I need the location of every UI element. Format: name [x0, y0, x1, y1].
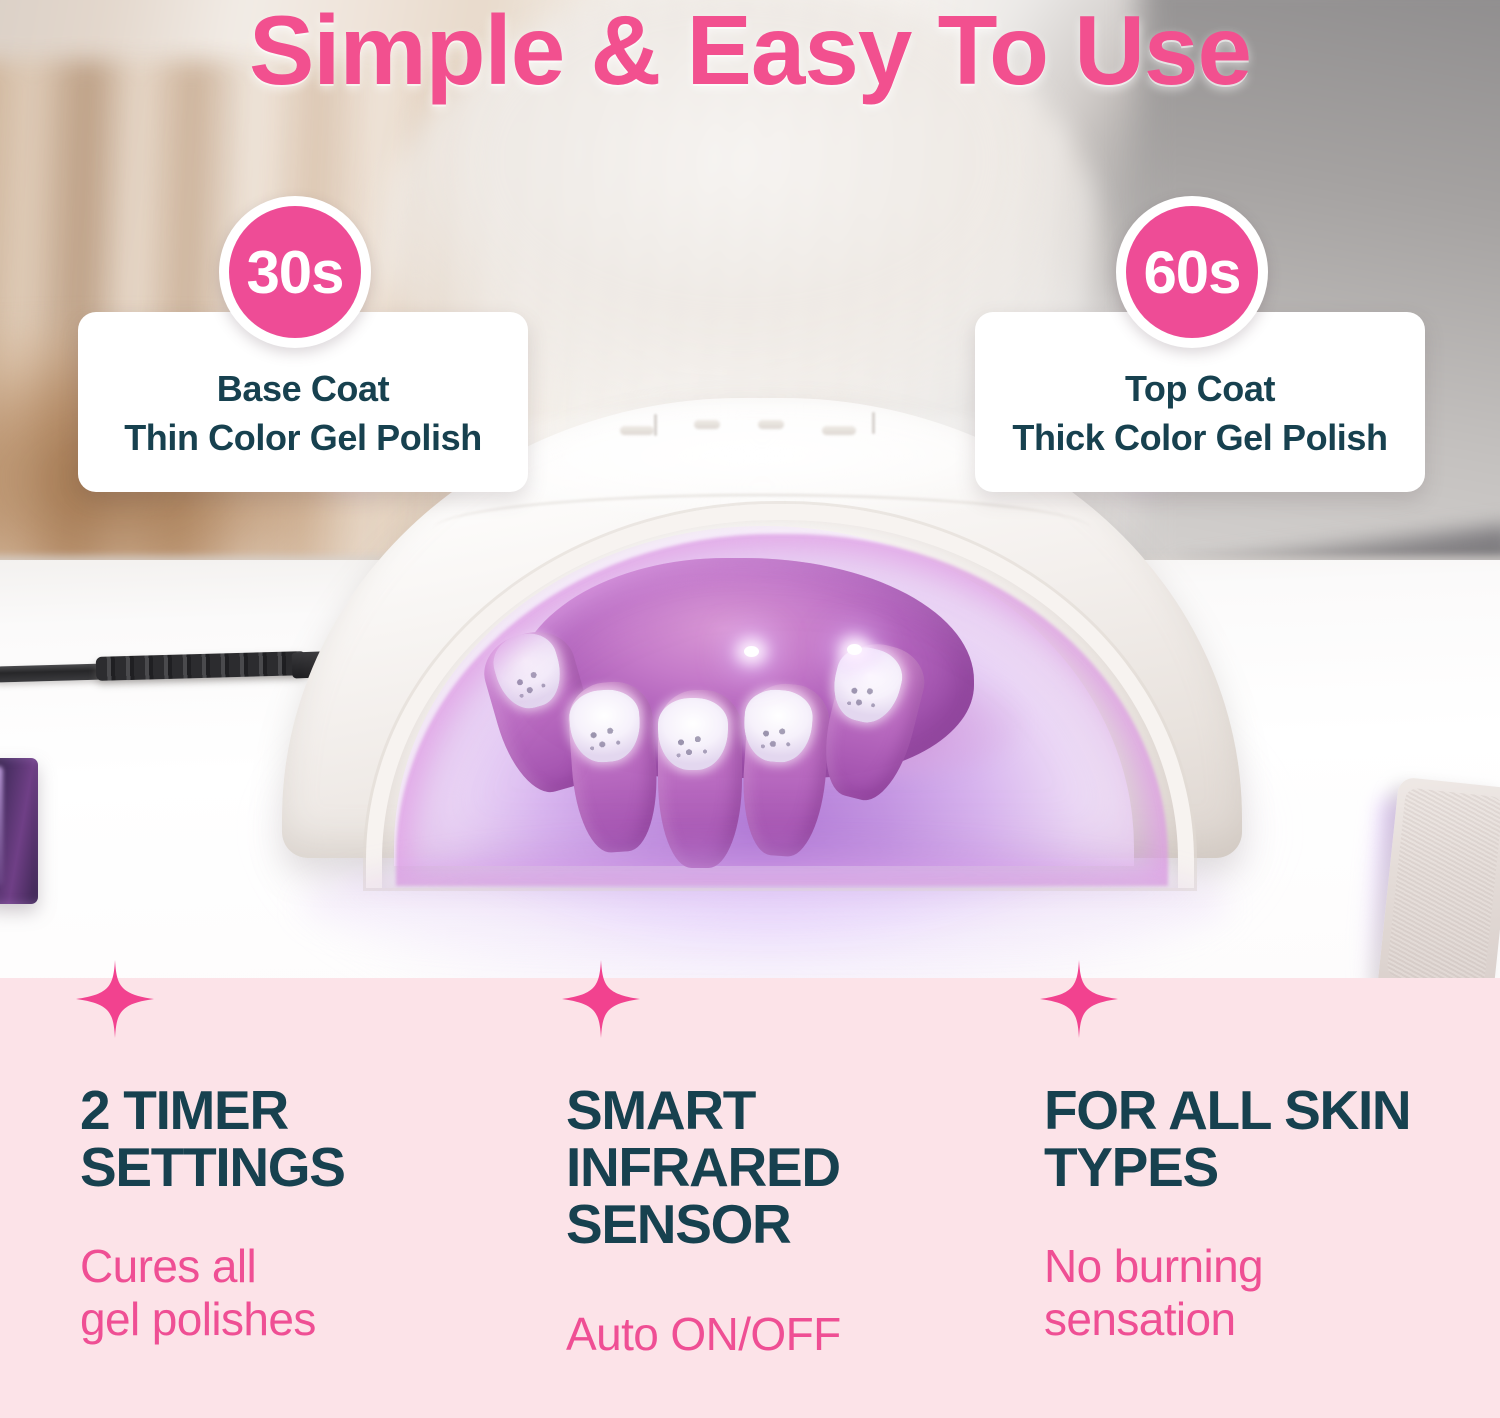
- nail-file-grit: [1386, 787, 1500, 982]
- feature-sub-3-line1: No burning: [1044, 1240, 1474, 1293]
- sparkle-star-icon: [1040, 960, 1118, 1038]
- timer-badge-60s: 60s: [1116, 196, 1268, 348]
- lamp-table-reflection: [300, 848, 1230, 968]
- gel-polish-bottle: [0, 758, 38, 904]
- callout-desc-top-coat: Thick Color Gel Polish: [1012, 415, 1387, 462]
- feature-sub-3-line2: sensation: [1044, 1293, 1474, 1346]
- feature-title-1: 2 TIMER SETTINGS: [80, 1082, 510, 1196]
- callout-desc-base-coat: Thin Color Gel Polish: [124, 415, 482, 462]
- sparkle-star-icon: [76, 960, 154, 1038]
- feature-title-2: SMART INFRARED SENSOR: [566, 1082, 996, 1254]
- lamp-led-1: [744, 646, 759, 657]
- feature-sub-2-line1: Auto ON/OFF: [566, 1308, 996, 1361]
- page-title: Simple & Easy To Use: [0, 0, 1500, 106]
- lamp-led-2: [847, 644, 862, 655]
- callout-title-base-coat: Base Coat: [217, 366, 389, 413]
- feature-sub-3: No burning sensation: [1044, 1240, 1474, 1347]
- callout-title-top-coat: Top Coat: [1125, 366, 1275, 413]
- feature-sub-1: Cures all gel polishes: [80, 1240, 510, 1347]
- gel-polish-bottle-highlight: [0, 766, 3, 886]
- product-infographic: Simple & Easy To Use 30s Base Coat Thin …: [0, 0, 1500, 1418]
- feature-timer-settings: 2 TIMER SETTINGS Cures all gel polishes: [54, 978, 524, 1418]
- feature-sub-1-line1: Cures all: [80, 1240, 510, 1293]
- feature-all-skin-types: FOR ALL SKIN TYPES No burning sensation: [1018, 978, 1488, 1418]
- timer-badge-30s: 30s: [219, 196, 371, 348]
- feature-sub-1-line2: gel polishes: [80, 1293, 510, 1346]
- feature-sub-2: Auto ON/OFF: [566, 1308, 996, 1361]
- feature-title-3: FOR ALL SKIN TYPES: [1044, 1082, 1474, 1196]
- feature-infrared-sensor: SMART INFRARED SENSOR Auto ON/OFF: [540, 978, 1010, 1418]
- feature-section: 2 TIMER SETTINGS Cures all gel polishes …: [0, 978, 1500, 1418]
- sparkle-star-icon: [562, 960, 640, 1038]
